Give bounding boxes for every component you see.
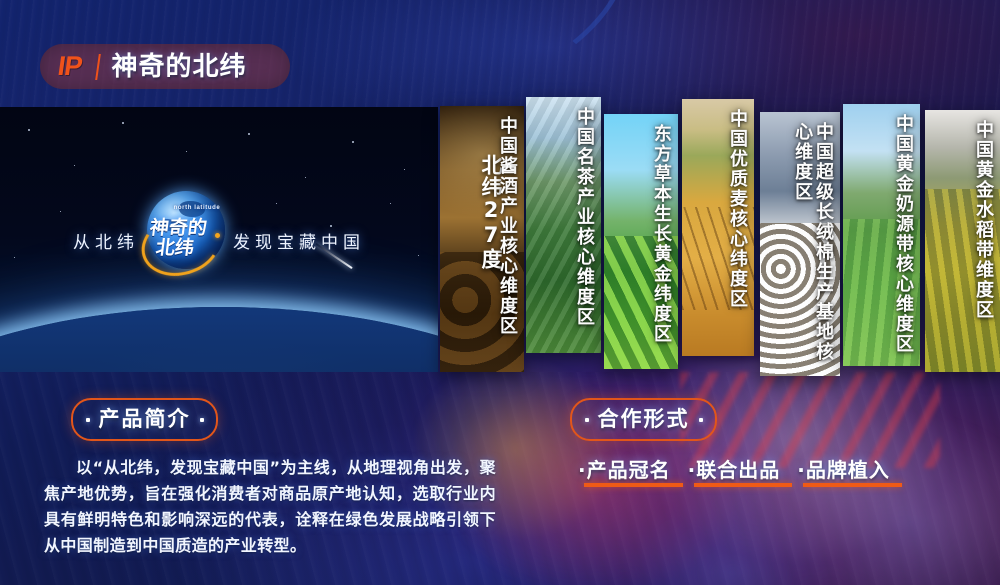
hero-tagline-row: 从北纬 north latitude 神奇的 北纬 发现宝藏中国 (0, 211, 438, 275)
pill-dot-right-icon (699, 418, 703, 422)
intro-paragraph: 以“从北纬，发现宝藏中国”为主线，从地理视角出发，聚焦产地优势，旨在强化消费者对… (44, 455, 496, 559)
cooperation-list: ·产品冠名 ·联合出品 ·品牌植入 (578, 460, 978, 487)
logo-english-text: north latitude (165, 205, 229, 211)
pill-dot-left-icon (86, 418, 90, 422)
ip-badge: IP 神奇的北纬 (40, 44, 290, 89)
card-wheat-label: 中国优质麦核心纬度区 (726, 109, 747, 348)
card-liquor-label: 中国酱酒产业核心维度区 (496, 116, 517, 364)
coop-underline (694, 483, 793, 487)
section-pill-intro: 产品简介 (71, 398, 218, 441)
logo-accent-dot-icon (215, 233, 220, 238)
card-tea[interactable]: 中国名茶产业核心维度区 (526, 97, 601, 353)
card-liquor[interactable]: 北纬27度 中国酱酒产业核心维度区 (440, 106, 524, 372)
coop-underline (584, 483, 683, 487)
card-milk[interactable]: 中国黄金奶源带核心维度区 (843, 104, 920, 366)
coop-item-copresent[interactable]: ·联合出品 (688, 460, 781, 487)
card-wheat[interactable]: 中国优质麦核心纬度区 (682, 99, 754, 356)
pill-dot-right-icon (200, 418, 204, 422)
hero-left-text: 从北纬 (73, 235, 139, 252)
card-herb[interactable]: 东方草本生长黄金纬度区 (604, 114, 678, 369)
north-latitude-logo: north latitude 神奇的 北纬 (143, 189, 229, 275)
ip-mark-label: IP (56, 53, 83, 80)
poster-canvas: IP 神奇的北纬 从北纬 (0, 0, 1000, 585)
card-herb-label: 东方草本生长黄金纬度区 (650, 124, 671, 361)
coop-item-naming[interactable]: ·产品冠名 (578, 460, 671, 487)
card-cotton-label: 中国超级长绒棉生产基地核心维度区 (791, 122, 833, 368)
card-cotton[interactable]: 中国超级长绒棉生产基地核心维度区 (760, 112, 840, 376)
hero-space-banner: 从北纬 north latitude 神奇的 北纬 发现宝藏中国 (0, 107, 438, 372)
card-rice[interactable]: 中国黄金水稻带维度区 (925, 110, 1000, 372)
section-coop-title: 合作形式 (598, 409, 690, 430)
coop-item-label: ·联合出品 (688, 460, 781, 480)
hero-right-text: 发现宝藏中国 (233, 235, 365, 252)
section-intro-title: 产品简介 (99, 409, 191, 430)
coop-item-label: ·品牌植入 (797, 460, 890, 480)
card-milk-label: 中国黄金奶源带核心维度区 (892, 114, 913, 358)
section-pill-coop: 合作形式 (570, 398, 717, 441)
card-tea-label: 中国名茶产业核心维度区 (573, 107, 594, 345)
cockpit-light-bars (680, 372, 940, 468)
ip-badge-title: 神奇的北纬 (112, 54, 247, 80)
logo-line2-text: 北纬 (154, 233, 195, 260)
card-rice-label: 中国黄金水稻带维度区 (972, 120, 993, 364)
coop-item-placement[interactable]: ·品牌植入 (797, 460, 890, 487)
coop-underline (803, 483, 902, 487)
coop-item-label: ·产品冠名 (578, 460, 671, 480)
pill-dot-left-icon (585, 418, 589, 422)
ip-badge-divider (95, 54, 101, 80)
